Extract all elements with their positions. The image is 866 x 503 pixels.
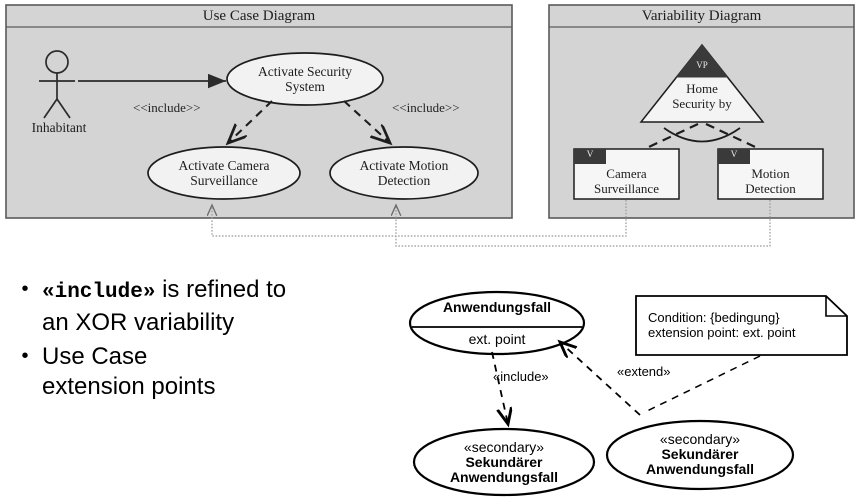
bullet-keyword: «include» bbox=[42, 281, 155, 304]
secondary-name-line2: Anwendungsfall bbox=[618, 462, 782, 477]
actor-label: Inhabitant bbox=[20, 120, 98, 136]
list-item: • «include» is refined to an XOR variabi… bbox=[8, 275, 408, 338]
include-label-left: <<include>> bbox=[133, 100, 201, 116]
include-relation-label: «include» bbox=[493, 369, 549, 384]
secondary-name-line1: Sekundärer bbox=[618, 447, 782, 462]
primary-use-case-name: Anwendungsfall bbox=[420, 300, 574, 315]
variant-label-line1: Camera bbox=[576, 166, 677, 181]
variability-diagram-title: Variability Diagram bbox=[549, 8, 854, 25]
primary-use-case-extension-point: ext. point bbox=[420, 332, 574, 347]
include-relation-arrow bbox=[492, 352, 508, 424]
bullet-rest: Use Case bbox=[42, 343, 147, 370]
use-case-label-line1: Activate Motion bbox=[334, 158, 474, 173]
condition-note-line1: Condition: {bedingung} bbox=[648, 310, 795, 325]
secondary-stereotype: «secondary» bbox=[618, 432, 782, 447]
variant-tag-camera-surveillance: V bbox=[574, 150, 606, 160]
bullet-marker: • bbox=[8, 342, 42, 370]
use-case-label-line2: System bbox=[232, 79, 378, 94]
secondary-use-case-right-text: «secondary» Sekundärer Anwendungsfall bbox=[618, 432, 782, 477]
variant-label-line2: Detection bbox=[720, 181, 821, 196]
use-case-label-line1: Activate Security bbox=[232, 64, 378, 79]
variation-point-tag: VP bbox=[677, 60, 727, 70]
include-label-right: <<include>> bbox=[392, 100, 460, 116]
bullet-content: «include» is refined to an XOR variabili… bbox=[42, 275, 286, 338]
variant-label-camera-surveillance: Camera Surveillance bbox=[576, 166, 677, 196]
slide-canvas: Use Case Diagram Inhabitant Activate Sec… bbox=[0, 0, 866, 503]
use-case-label-line2: Detection bbox=[334, 173, 474, 188]
secondary-name-line2: Anwendungsfall bbox=[424, 470, 584, 485]
use-case-label-activate-motion-detection: Activate Motion Detection bbox=[334, 158, 474, 188]
bullet-line2: extension points bbox=[42, 373, 215, 400]
variant-tag-motion-detection: V bbox=[718, 150, 750, 160]
bullet-marker: • bbox=[8, 275, 42, 303]
use-case-label-activate-security-system: Activate Security System bbox=[232, 64, 378, 94]
condition-note-line2: extension point: ext. point bbox=[648, 325, 795, 340]
bullet-rest: is refined to bbox=[155, 276, 286, 303]
bullet-line2: an XOR variability bbox=[42, 309, 234, 336]
diagram-graphics-layer bbox=[0, 0, 866, 503]
secondary-use-case-left-text: «secondary» Sekundärer Anwendungsfall bbox=[424, 440, 584, 485]
variant-label-motion-detection: Motion Detection bbox=[720, 166, 821, 196]
list-item: • Use Case extension points bbox=[8, 342, 408, 402]
use-case-label-activate-camera-surveillance: Activate Camera Surveillance bbox=[152, 158, 296, 188]
use-case-label-line2: Surveillance bbox=[152, 173, 296, 188]
extend-relation-label: «extend» bbox=[617, 364, 671, 379]
variation-point-label: Home Security by bbox=[647, 81, 757, 111]
variation-point-label-line2: Security by bbox=[647, 96, 757, 111]
secondary-stereotype: «secondary» bbox=[424, 440, 584, 455]
bullet-list: • «include» is refined to an XOR variabi… bbox=[8, 275, 408, 406]
variant-label-line1: Motion bbox=[720, 166, 821, 181]
variation-point-label-line1: Home bbox=[647, 81, 757, 96]
variant-label-line2: Surveillance bbox=[576, 181, 677, 196]
bullet-content: Use Case extension points bbox=[42, 342, 215, 402]
use-case-label-line1: Activate Camera bbox=[152, 158, 296, 173]
use-case-diagram-title: Use Case Diagram bbox=[6, 8, 512, 25]
condition-note-text: Condition: {bedingung} extension point: … bbox=[648, 310, 795, 340]
secondary-name-line1: Sekundärer bbox=[424, 455, 584, 470]
